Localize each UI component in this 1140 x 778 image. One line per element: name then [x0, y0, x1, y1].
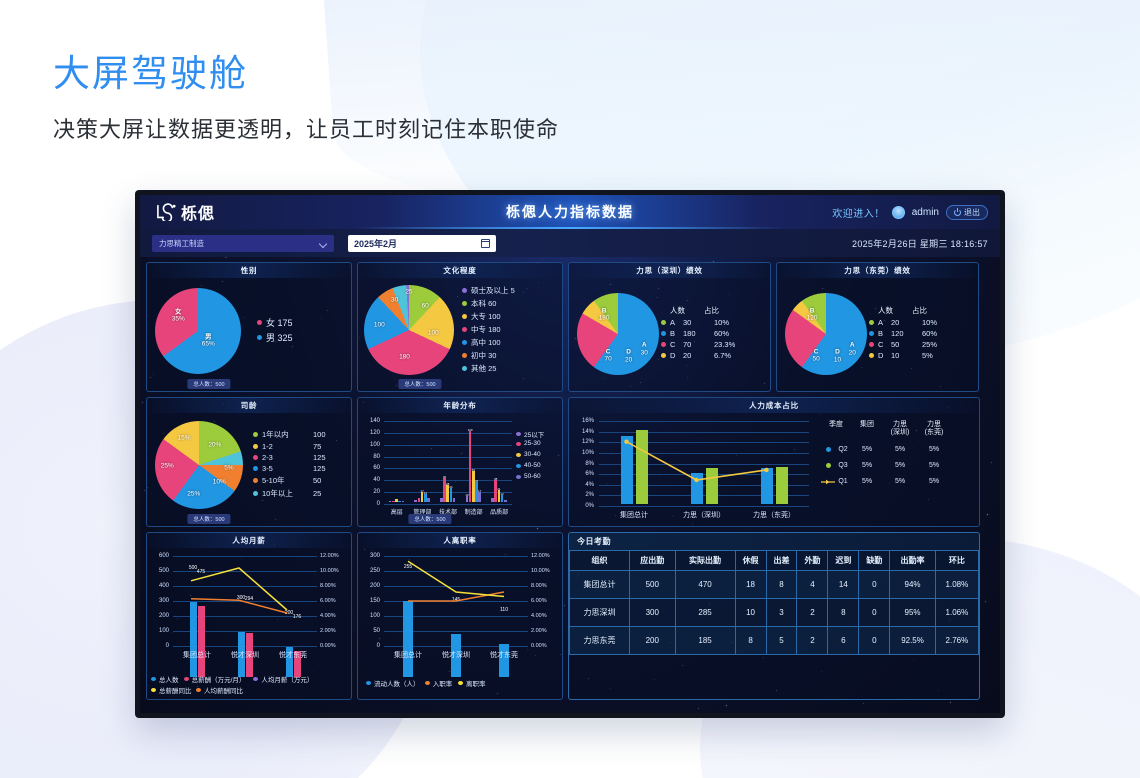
username-label: admin [912, 207, 939, 218]
legend-label: 25以下 [524, 429, 544, 439]
y2-axis-tick: 2.00% [531, 628, 547, 634]
y-axis-tick: 6% [569, 471, 594, 477]
x-axis-label: 品质部 [490, 507, 508, 516]
legend-label: 总薪酬同比 [159, 685, 192, 695]
bar [402, 501, 405, 502]
bar [427, 498, 430, 502]
y2-axis-tick: 8.00% [531, 583, 547, 589]
legend-header: 人数 占比 [661, 305, 766, 316]
y2-axis-tick: 10.00% [531, 568, 550, 574]
bar-value-label: 145 [452, 597, 460, 603]
legend-item: 5-10年50 [253, 475, 347, 486]
y2-axis-tick: 10.00% [320, 568, 339, 574]
legend-item: 1-275 [253, 442, 347, 451]
legend-dot-icon [661, 353, 666, 358]
panel-education: 文化程度 60 100 180 100 30 25 硕士及以上 5 [357, 262, 563, 392]
legend-dot-icon [661, 331, 666, 336]
legend-dot-icon [516, 475, 521, 479]
pie-slice-label: 男65% [202, 333, 215, 348]
bar-value-label: 255 [404, 564, 412, 570]
legend-item: 40-50 [516, 462, 541, 469]
y-axis-tick: 2% [569, 492, 594, 498]
legend-item: 1年以内100 [253, 429, 347, 440]
date-picker[interactable]: 2025年2月 [348, 235, 496, 252]
table-cell: 2 [797, 599, 828, 627]
bar-value-label: 14 [424, 491, 427, 495]
panel-title-perf-sz: 力思（深圳）绩效 [569, 263, 770, 278]
bar [499, 644, 509, 677]
pie-slice-label: C50 [813, 348, 820, 363]
legend-perf-dg: 人数 占比 A2010% B12060% C5025% D105% [867, 305, 974, 362]
legend-item: 30-40 [516, 451, 541, 458]
pie-slice-label: 15% [178, 434, 191, 441]
logout-label: 退出 [964, 207, 980, 218]
legend-gender: 女 175 男 325 [241, 316, 345, 346]
legend-dot-icon [462, 353, 467, 358]
bar-value-label: 38 [494, 477, 497, 481]
legend-item: B18060% [661, 329, 766, 338]
pie-slice-label: 100 [374, 321, 385, 328]
table-cell: 集团总计 [570, 571, 630, 599]
legend-item: 中专 180 [462, 324, 558, 335]
legend-dot-icon [821, 463, 835, 468]
pie-slice-label: B120 [807, 307, 818, 322]
y-axis-tick: 250 [358, 568, 380, 574]
bar [776, 467, 788, 504]
bar [636, 430, 648, 504]
pie-slice-label: 20% [208, 441, 221, 448]
legend-item: 高中 100 [462, 337, 558, 348]
y2-axis-tick: 4.00% [531, 613, 547, 619]
table-cell: 200 [630, 627, 676, 655]
chart-gender: 男65% 女35% 女 175 男 325 总人数：500 [147, 278, 351, 391]
legend-item: 2-3125 [253, 453, 347, 462]
pie-slice-label: 10% [213, 478, 226, 485]
salary-bar-chart: 00.00%1002.00%2004.00%3006.00%4008.00%50… [147, 548, 351, 699]
y-axis-tick: 0% [569, 503, 594, 509]
table-cell: 285 [675, 599, 735, 627]
y-axis-tick: 200 [147, 613, 169, 619]
org-select-value: 力思精工制造 [159, 238, 204, 249]
panel-tenure: 司龄 20% 5% 10% 25% 25% 15% 1年以内100 [146, 397, 352, 527]
y-axis-tick: 12% [569, 439, 594, 445]
pie-slice-label: 女35% [172, 308, 185, 323]
column-header: 出勤率 [890, 551, 936, 571]
y-axis-tick: 400 [147, 583, 169, 589]
legend-item: 离职率 [458, 678, 486, 688]
bar [389, 501, 392, 502]
pie-tenure: 20% 5% 10% 25% 25% 15% [155, 421, 243, 509]
chart-perf-sz: B180 C70 D20 A30 人数 占比 A3010% B18060% [569, 278, 770, 391]
y-axis-tick: 8% [569, 461, 594, 467]
col-header-pct: 占比 [912, 305, 927, 316]
table-cell: 0 [859, 627, 890, 655]
legend-header: 人数 占比 [869, 305, 974, 316]
cost-table-row: Q3 5% 5% 5% [821, 462, 973, 469]
bar [403, 601, 413, 678]
legend-dot-icon [253, 466, 258, 471]
bar [190, 602, 197, 677]
panel-title-turnover: 人离职率 [358, 533, 562, 548]
pie-slice-label: A30 [641, 342, 648, 357]
legend-dot-icon [869, 320, 874, 325]
chart-education: 60 100 180 100 30 25 硕士及以上 5 本科 60 大专 10… [358, 278, 562, 391]
y-axis-tick: 300 [358, 553, 380, 559]
pie-perf-sz: B180 C70 D20 A30 [577, 293, 659, 375]
table-row: 集团总计500470188414094%1.08% [570, 571, 979, 599]
y-axis-tick: 100 [147, 628, 169, 634]
panel-gender: 性别 男65% 女35% 女 175 男 325 总人数：500 [146, 262, 352, 392]
legend-dot-icon [516, 432, 521, 436]
legend-item: 本科 60 [462, 298, 558, 309]
x-axis-label: 悦才深圳 [442, 650, 470, 660]
y-axis-tick: 600 [147, 553, 169, 559]
legend-dot-icon [516, 442, 521, 446]
bar-value-label: 24 [449, 485, 452, 489]
y-axis-tick: 60 [358, 465, 380, 471]
legend-item: 人均月薪（万元） [253, 674, 313, 684]
bar [418, 498, 421, 502]
legend-label: 40-50 [524, 462, 541, 469]
y2-axis-tick: 6.00% [320, 598, 336, 604]
table-cell: 92.5% [890, 627, 936, 655]
panel-title-salary: 人均月薪 [147, 533, 351, 548]
pie-slice-label: 25% [161, 462, 174, 469]
legend-item: 大专 100 [462, 311, 558, 322]
legend-item: 人均薪酬同比 [196, 685, 243, 695]
turnover-bar-chart: 00.00%502.00%1004.00%1506.00%2008.00%250… [358, 548, 562, 699]
legend-dot-icon [462, 366, 467, 371]
pie-slice-label: 60 [422, 302, 429, 309]
legend-dot-icon [425, 681, 430, 685]
legend-label: 流动人数（人） [374, 678, 420, 688]
legend-label: 总薪酬（万元/月） [192, 674, 246, 684]
y-axis-tick: 100 [358, 613, 380, 619]
legend-dot-icon [516, 453, 521, 457]
table-cell: 4 [797, 571, 828, 599]
table-cell: 3 [766, 599, 797, 627]
table-cell: 力思深圳 [570, 599, 630, 627]
pie-slice-label: A20 [849, 342, 856, 357]
dashboard-grid: 性别 男65% 女35% 女 175 男 325 总人数：500 [140, 257, 1000, 706]
legend-label: 总人数 [159, 674, 179, 684]
panel-title-age: 年龄分布 [358, 398, 562, 413]
legend-item: 25以下 [516, 429, 544, 439]
pie-slice-label: 30 [391, 297, 398, 304]
dashboard-row-3: 人均月薪 00.00%1002.00%2004.00%3006.00%4008.… [146, 532, 994, 700]
logo-text: 栎偲 [181, 200, 215, 224]
bar [706, 468, 718, 504]
bar [478, 492, 481, 502]
table-cell: 94% [890, 571, 936, 599]
y-axis-tick: 4% [569, 482, 594, 488]
table-cell: 95% [890, 599, 936, 627]
column-header: 出差 [766, 551, 797, 571]
legend-item: 总薪酬（万元/月） [184, 674, 246, 684]
table-cell: 力思东莞 [570, 627, 630, 655]
legend-item: 25-30 [516, 440, 541, 447]
column-header: 应出勤 [630, 551, 676, 571]
y-axis-tick: 140 [358, 418, 380, 424]
legend-label: 离职率 [466, 678, 486, 688]
y2-axis-tick: 6.00% [531, 598, 547, 604]
panel-turnover: 人离职率 00.00%502.00%1004.00%1506.00%2008.0… [357, 532, 563, 700]
legend-dot-icon [462, 301, 467, 306]
logout-button[interactable]: 退出 [946, 205, 988, 220]
cost-table-row: Q2 5% 5% 5% [821, 446, 973, 453]
table-cell: 500 [630, 571, 676, 599]
bar-value-label: 21 [497, 487, 500, 491]
cost-table-row: Q1 5% 5% 5% [821, 478, 973, 485]
pie-slice-label: 25 [405, 288, 412, 295]
bar [395, 499, 398, 502]
legend-label: 50-60 [524, 473, 541, 480]
legend-item: C7023.3% [661, 340, 766, 349]
chart-turnover: 00.00%502.00%1004.00%1506.00%2008.00%250… [358, 548, 562, 699]
legend-item: D206.7% [661, 351, 766, 360]
legend-dot-icon [462, 327, 467, 332]
y-axis-tick: 0 [358, 643, 380, 649]
legend-label: 人均薪酬同比 [204, 685, 243, 695]
x-axis-label: 悦才东莞 [490, 650, 518, 660]
pie-slice-label: D20 [625, 349, 632, 364]
table-cell: 8 [735, 627, 766, 655]
dashboard-row-1: 性别 男65% 女35% 女 175 男 325 总人数：500 [146, 262, 994, 392]
y2-axis-tick: 8.00% [320, 583, 336, 589]
y-axis-tick: 500 [147, 568, 169, 574]
bar-value-label: 475 [197, 569, 205, 575]
pie-perf-dg: B120 C50 D10 A20 [785, 293, 867, 375]
pie-slice-label: 180 [399, 353, 410, 360]
panel-perf-shenzhen: 力思（深圳）绩效 B180 C70 D20 A30 人数 占比 [568, 262, 771, 392]
chart-salary: 00.00%1002.00%2004.00%3006.00%4008.00%50… [147, 548, 351, 699]
y2-axis-tick: 0.00% [531, 643, 547, 649]
legend-item: 10年以上25 [253, 488, 347, 499]
chart-age: 020406080100120140高层1714管理部402824技术部1012… [358, 413, 562, 526]
y2-axis-tick: 12.00% [531, 553, 550, 559]
y-axis-tick: 0 [147, 643, 169, 649]
y2-axis-tick: 4.00% [320, 613, 336, 619]
panel-age: 年龄分布 020406080100120140高层1714管理部402824技术… [357, 397, 563, 527]
bar [761, 468, 773, 504]
bar-value-label: 33 [475, 479, 478, 483]
bar-value-label: 176 [293, 614, 301, 620]
legend-dot-icon [821, 447, 835, 452]
legend-item: 总薪酬同比 [151, 685, 192, 695]
x-axis-label: 高层 [391, 507, 403, 516]
y2-axis-tick: 0.00% [320, 643, 336, 649]
x-axis-label: 制造部 [465, 507, 483, 516]
chart-perf-dg: B120 C50 D10 A20 人数 占比 A2010% B12060% [777, 278, 978, 391]
page-heading: 大屏驾驶舱 决策大屏让数据更透明，让员工时刻记住本职使命 [53, 52, 559, 144]
legend-dot-icon [458, 681, 463, 685]
bar-value-label: 53 [472, 468, 475, 472]
col-header-sz: 力思 (深圳) [883, 421, 917, 437]
column-header: 外勤 [797, 551, 828, 571]
legend-item: 总人数 [151, 674, 179, 684]
column-header: 环比 [935, 551, 978, 571]
cost-table: 季度 集团 力思 (深圳) 力思 (东莞) [821, 421, 973, 485]
table-cell: 185 [675, 627, 735, 655]
legend-perf-sz: 人数 占比 A3010% B18060% C7023.3% D206.7% [659, 305, 766, 362]
col-header-quarter: 季度 [821, 421, 851, 437]
panel-cost: 人力成本占比 0%2%4%6%8%10%12%14%16%集团总计力思（深圳）力… [568, 397, 980, 527]
y-axis-tick: 120 [358, 430, 380, 436]
table-cell: 2.76% [935, 627, 978, 655]
legend-dot-icon [462, 340, 467, 345]
y2-axis-tick: 2.00% [320, 628, 336, 634]
attendance-table: 组织应出勤实际出勤休假出差外勤迟到缺勤出勤率环比集团总计500470188414… [569, 550, 979, 655]
legend-dot-icon [253, 478, 258, 483]
calendar-icon [481, 239, 490, 248]
y-axis-tick: 50 [358, 628, 380, 634]
y-axis-tick: 80 [358, 454, 380, 460]
page-subtitle: 决策大屏让数据更透明，让员工时刻记住本职使命 [53, 112, 559, 144]
table-cell: 1.06% [935, 599, 978, 627]
y-axis-tick: 16% [569, 418, 594, 424]
legend-dot-icon [253, 444, 258, 449]
legend-item: 50-60 [516, 473, 541, 480]
table-header-row: 组织应出勤实际出勤休假出差外勤迟到缺勤出勤率环比 [570, 551, 979, 571]
panel-title-perf-dg: 力思（东莞）绩效 [777, 263, 978, 278]
table-cell: 6 [828, 627, 859, 655]
dashboard-row-2: 司龄 20% 5% 10% 25% 25% 15% 1年以内100 [146, 397, 994, 527]
bar [504, 500, 507, 502]
logo-icon [155, 203, 177, 221]
x-axis-label: 集团总计 [394, 650, 422, 660]
legend-item: B12060% [869, 329, 974, 338]
col-header-count: 人数 [878, 305, 910, 316]
legend-dot-icon [151, 688, 156, 692]
bar [494, 480, 497, 503]
bar [414, 500, 417, 502]
x-axis-label: 悦才东莞 [279, 650, 307, 660]
datetime-display: 2025年2月26日 星期三 18:16:57 [852, 237, 988, 250]
y-axis-tick: 300 [147, 598, 169, 604]
bar-value-label: 40 [443, 475, 446, 479]
legend-item: 流动人数（人） [366, 678, 420, 688]
total-chip: 总人数：500 [398, 379, 441, 389]
x-axis-label: 力思（东莞） [753, 510, 795, 520]
legend-dot-icon [253, 677, 258, 681]
col-header-dg: 力思 (东莞) [917, 421, 951, 437]
panel-salary: 人均月薪 00.00%1002.00%2004.00%3006.00%4008.… [146, 532, 352, 700]
x-axis-label: 集团总计 [183, 650, 211, 660]
bar [450, 488, 453, 502]
legend-dot-icon [462, 288, 467, 293]
panel-attendance: 今日考勤 组织应出勤实际出勤休假出差外勤迟到缺勤出勤率环比集团总计5004701… [568, 532, 980, 700]
bar-value-label: 294 [245, 596, 253, 602]
dashboard: 栎偲 栎偲人力指标数据 欢迎进入！ admin 退出 力思精工制造 2025年2… [140, 195, 1000, 713]
legend-tenure: 1年以内100 1-275 2-3125 3-5125 5-10年50 10年以… [243, 429, 347, 501]
legend-item: 其他 25 [462, 363, 558, 374]
y-axis-tick: 40 [358, 477, 380, 483]
avatar [892, 206, 905, 219]
legend-dot-icon [661, 320, 666, 325]
legend-dot-icon [151, 677, 156, 681]
age-bar-chart: 020406080100120140高层1714管理部402824技术部1012… [358, 413, 562, 526]
table-cell: 5 [766, 627, 797, 655]
pie-slice-label: 5% [224, 464, 233, 471]
legend-label: 25-30 [524, 440, 541, 447]
total-chip: 总人数：500 [187, 514, 230, 524]
panel-title-gender: 性别 [147, 263, 351, 278]
panel-title-education: 文化程度 [358, 263, 562, 278]
pie-education: 60 100 180 100 30 25 [364, 285, 454, 375]
table-cell: 14 [828, 571, 859, 599]
pie-slice-label: B180 [599, 307, 610, 322]
legend-dot-icon [869, 342, 874, 347]
legend-item: 硕士及以上 5 [462, 285, 558, 296]
legend-item: 男 325 [257, 331, 345, 344]
filter-bar: 力思精工制造 2025年2月 2025年2月26日 星期三 18:16:57 [140, 229, 1000, 257]
power-icon [954, 209, 961, 216]
bar [501, 495, 504, 502]
table-cell: 8 [766, 571, 797, 599]
app-logo[interactable]: 栎偲 [155, 200, 215, 224]
welcome-text: 欢迎进入！ [832, 205, 885, 220]
column-header: 迟到 [828, 551, 859, 571]
column-header: 休假 [735, 551, 766, 571]
legend-line-icon [821, 479, 835, 485]
pie-slice-label: D10 [834, 349, 841, 364]
dashboard-frame: 栎偲 栎偲人力指标数据 欢迎进入！ admin 退出 力思精工制造 2025年2… [135, 190, 1005, 718]
table-cell: 18 [735, 571, 766, 599]
dashboard-title: 栎偲人力指标数据 [506, 202, 634, 222]
table-cell: 0 [859, 599, 890, 627]
table-cell: 470 [675, 571, 735, 599]
legend-dot-icon [516, 464, 521, 468]
table-cell: 8 [828, 599, 859, 627]
legend-dot-icon [184, 677, 189, 681]
legend-dot-icon [253, 432, 258, 437]
table-cell: 1.08% [935, 571, 978, 599]
bar-value-label: 110 [500, 607, 508, 613]
panel-perf-dongguan: 力思（东莞）绩效 B120 C50 D10 A20 人数 占比 [776, 262, 979, 392]
y2-axis-tick: 12.00% [320, 553, 339, 559]
col-header-group: 集团 [851, 421, 883, 437]
bar [491, 498, 494, 502]
x-axis-label: 集团总计 [620, 510, 648, 520]
legend-dot-icon [366, 681, 371, 685]
legend-education: 硕士及以上 5 本科 60 大专 100 中专 180 高中 100 初中 30… [454, 285, 558, 376]
panel-title-cost: 人力成本占比 [569, 398, 979, 413]
y-axis-tick: 10% [569, 450, 594, 456]
org-select[interactable]: 力思精工制造 [152, 235, 334, 252]
bar [621, 436, 633, 504]
legend-dot-icon [869, 331, 874, 336]
table-row: 力思东莞2001858526092.5%2.76% [570, 627, 979, 655]
legend-dot-icon [257, 320, 262, 325]
total-chip: 总人数：500 [408, 514, 451, 524]
legend-dot-icon [196, 688, 201, 692]
bar [198, 606, 205, 677]
y-axis-tick: 0 [358, 501, 380, 507]
legend-item: A3010% [661, 318, 766, 327]
x-axis-label: 悦才深圳 [231, 650, 259, 660]
legend-dot-icon [257, 335, 262, 340]
table-cell: 300 [630, 599, 676, 627]
attendance-title: 今日考勤 [569, 533, 979, 550]
legend-dot-icon [253, 491, 258, 496]
column-header: 实际出勤 [675, 551, 735, 571]
dashboard-topbar: 栎偲 栎偲人力指标数据 欢迎进入！ admin 退出 [140, 195, 1000, 229]
table-cell: 10 [735, 599, 766, 627]
bar-value-label: 17 [478, 489, 481, 493]
legend-item: C5025% [869, 340, 974, 349]
legend-item: 女 175 [257, 316, 345, 329]
y-axis-tick: 100 [358, 442, 380, 448]
